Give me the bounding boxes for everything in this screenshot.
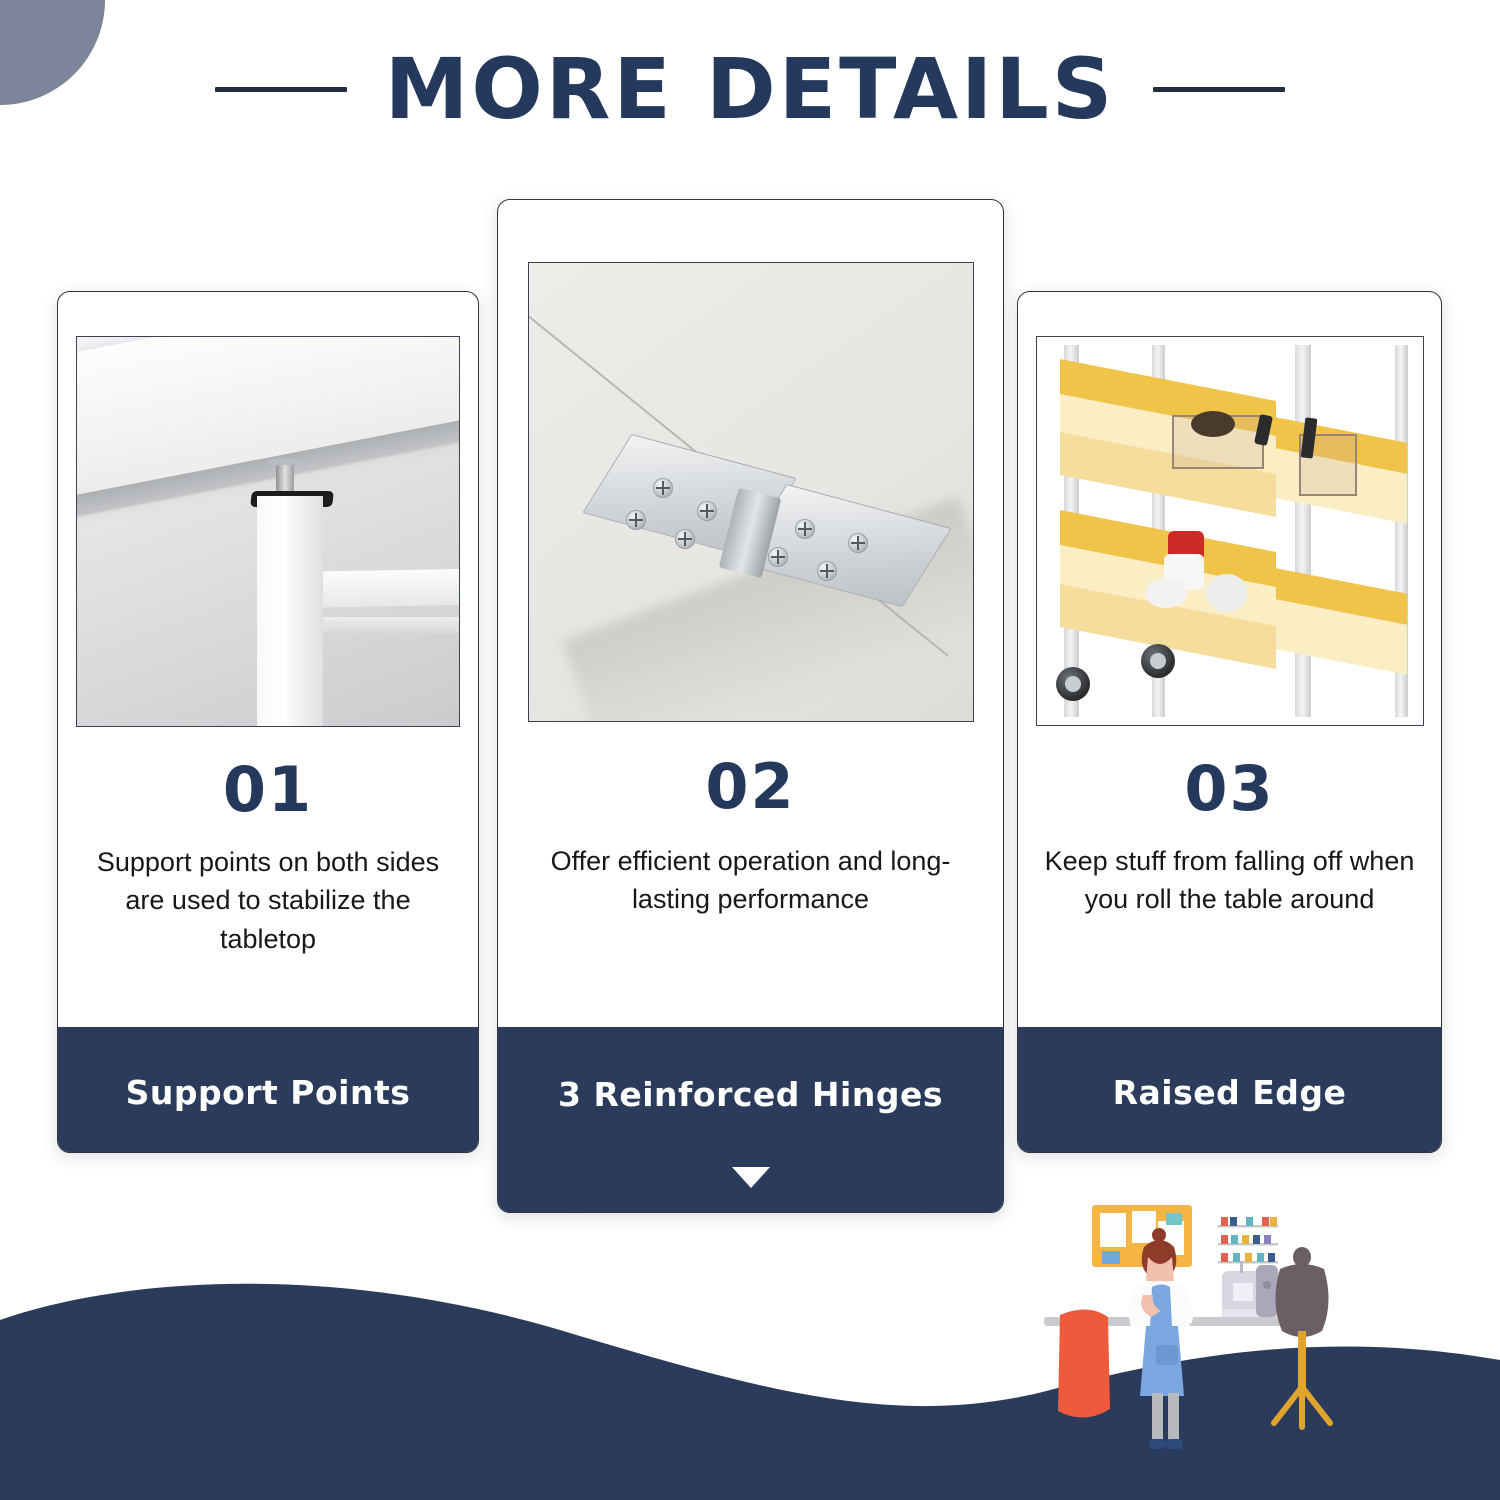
card-banner: Raised Edge xyxy=(1018,1027,1441,1152)
caster-wheel-icon xyxy=(1141,644,1175,678)
card-banner-label: 3 Reinforced Hinges xyxy=(498,1075,1003,1114)
card-number: 03 xyxy=(1018,758,1441,820)
card-image-support-point xyxy=(76,336,460,727)
thread-spools-icon xyxy=(1218,1217,1278,1264)
card-description: Offer efficient operation and long-lasti… xyxy=(498,818,1003,919)
page-title: MORE DETAILS xyxy=(385,47,1115,131)
red-fabric xyxy=(1058,1309,1110,1417)
card-banner: 3 Reinforced Hinges xyxy=(498,1027,1003,1212)
header-rule-right-icon xyxy=(1153,87,1285,92)
screw-icon xyxy=(817,561,837,581)
card-banner-label: Raised Edge xyxy=(1018,1073,1441,1112)
card-number: 01 xyxy=(58,759,478,821)
dress-form-icon xyxy=(1274,1247,1330,1427)
card-image-hinge xyxy=(528,262,974,722)
card-image-raised-edge xyxy=(1036,336,1424,726)
chevron-down-icon[interactable] xyxy=(732,1167,770,1188)
card-banner: Support Points xyxy=(58,1027,478,1152)
header-rule-left-icon xyxy=(215,87,347,92)
detail-card-support-points[interactable]: 01 Support points on both sides are used… xyxy=(57,291,479,1153)
caster-wheel-icon xyxy=(1056,667,1090,701)
card-description: Support points on both sides are used to… xyxy=(58,821,478,958)
infographic-root: MORE DETAILS 01 Support points on both s… xyxy=(0,0,1500,1500)
card-description: Keep stuff from falling off when you rol… xyxy=(1018,820,1441,919)
seamstress-illustration xyxy=(1040,1195,1440,1500)
card-number: 02 xyxy=(498,756,1003,818)
screw-icon xyxy=(653,478,673,498)
detail-card-raised-edge[interactable]: 03 Keep stuff from falling off when you … xyxy=(1017,291,1442,1153)
card-banner-label: Support Points xyxy=(58,1073,478,1112)
page-header: MORE DETAILS xyxy=(0,34,1500,144)
detail-card-reinforced-hinges[interactable]: 02 Offer efficient operation and long-la… xyxy=(497,199,1004,1213)
screw-icon xyxy=(675,529,695,549)
